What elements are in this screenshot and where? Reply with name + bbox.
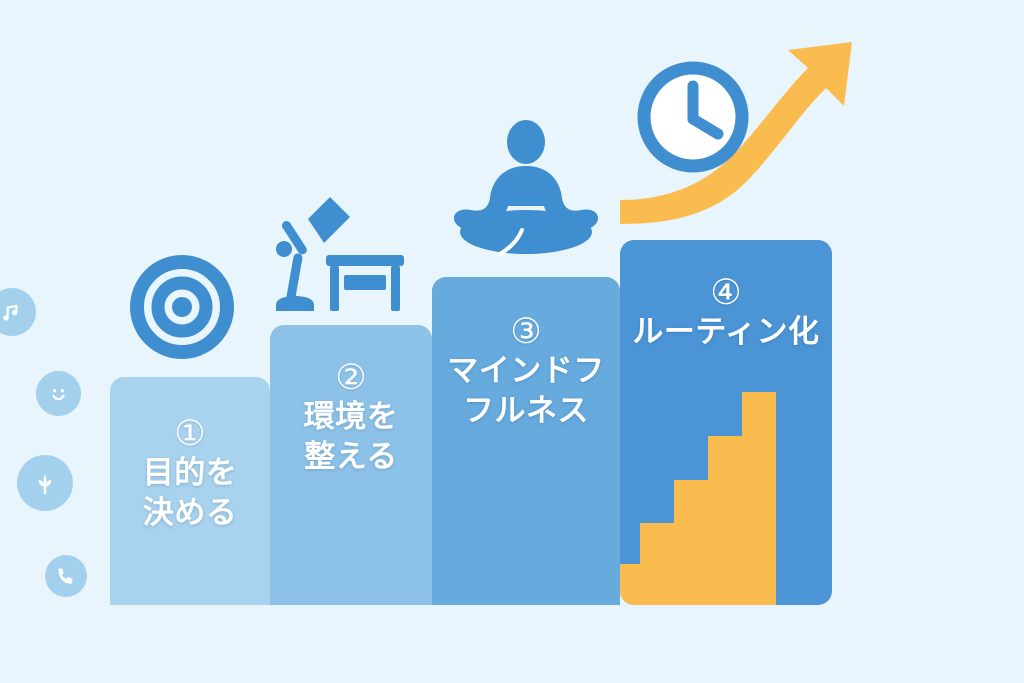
- step-bar-3[interactable]: ③ マインドフ フルネス: [432, 277, 620, 605]
- step-bar-4[interactable]: ④ ルーティン化: [620, 240, 832, 605]
- phone-icon: [45, 555, 87, 597]
- step-2-number: ②: [335, 361, 366, 397]
- step-3-label: マインドフ フルネス: [447, 351, 605, 432]
- step-2-label: 環境を 整える: [304, 397, 399, 478]
- clock-icon: [634, 58, 752, 176]
- plant-icon: [17, 455, 73, 511]
- step-bar-1[interactable]: ① 目的を 決める: [110, 377, 270, 605]
- meditation-icon: [452, 120, 600, 260]
- step-1-label: 目的を 決める: [143, 453, 238, 534]
- infographic-canvas: ① 目的を 決める ② 環境を 整える ③ マインドフ フルネス ④ ルーティン…: [0, 0, 1024, 683]
- step-bar-2[interactable]: ② 環境を 整える: [270, 325, 432, 605]
- smiley-face-icon: [36, 371, 81, 416]
- desk-lamp-icon: [272, 193, 406, 317]
- step-4-number: ④: [710, 276, 741, 312]
- music-note-icon: [0, 288, 36, 336]
- step-4-label: ルーティン化: [632, 312, 819, 352]
- target-icon: [130, 255, 234, 359]
- step-1-number: ①: [174, 417, 205, 453]
- step-3-number: ③: [510, 315, 541, 351]
